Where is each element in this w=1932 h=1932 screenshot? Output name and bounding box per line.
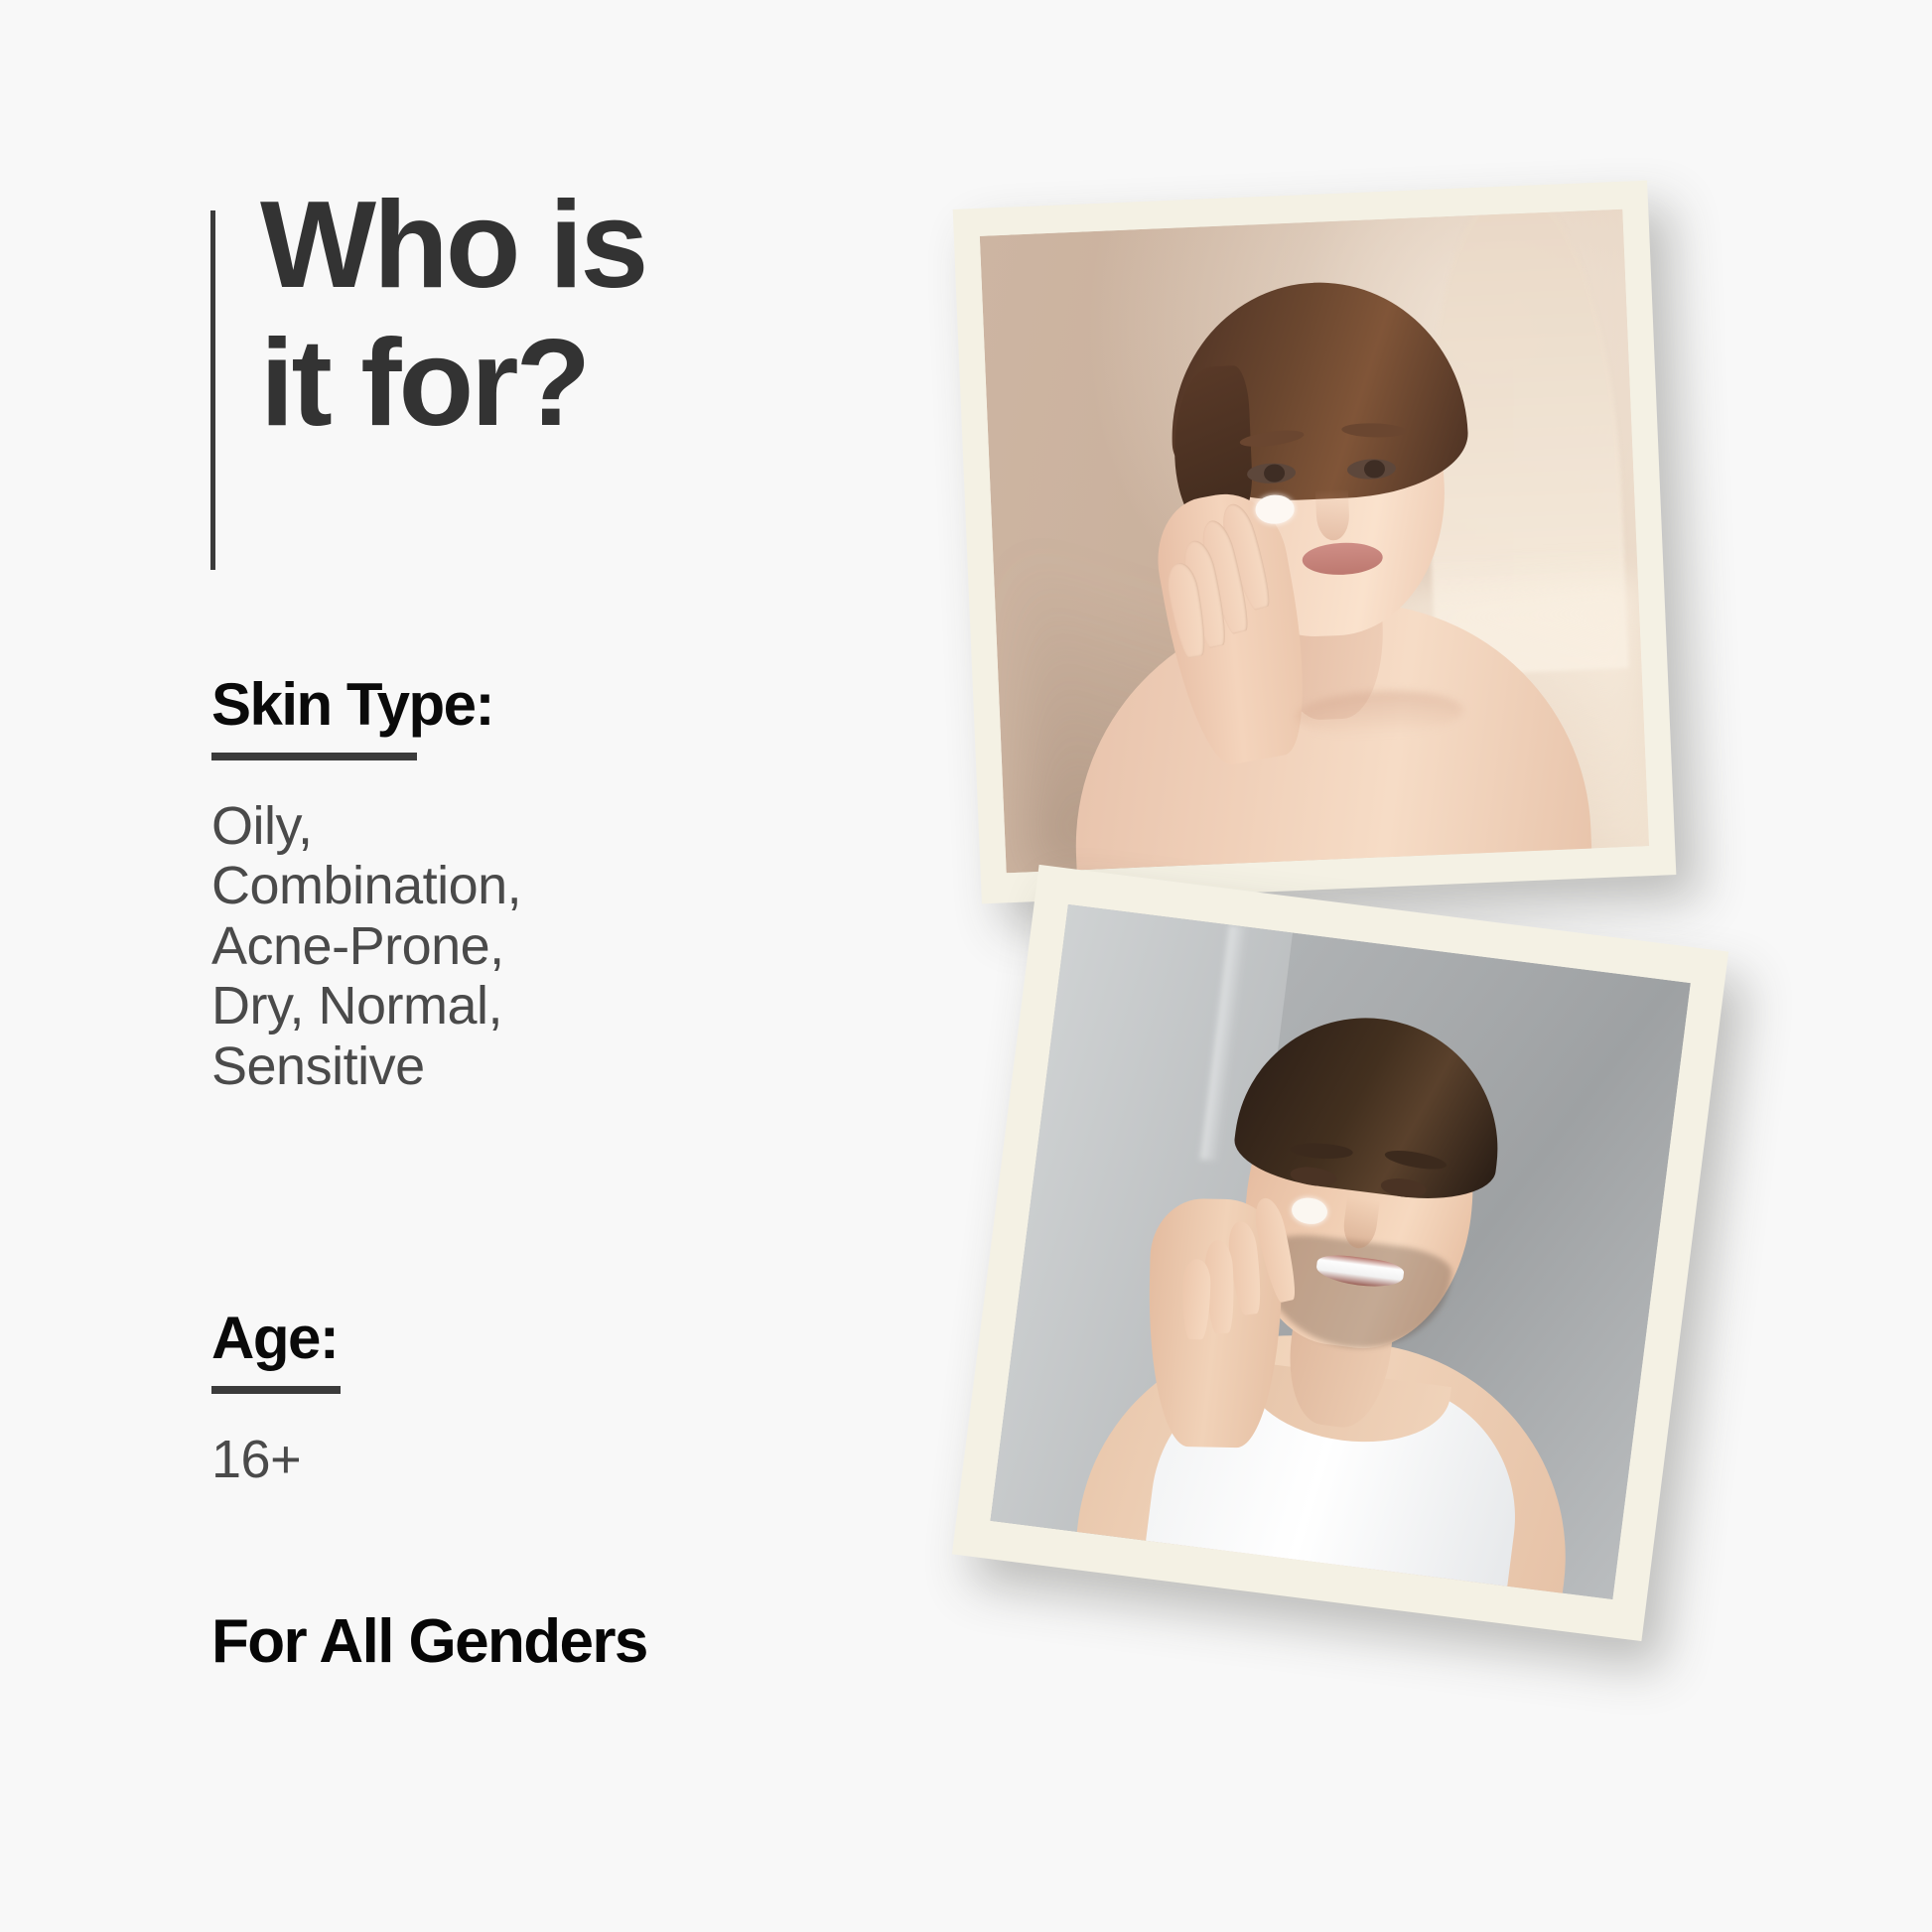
photo-woman-applying-cream xyxy=(980,209,1649,874)
woman-nose xyxy=(1315,488,1350,541)
photo-frame-man xyxy=(952,865,1728,1641)
poster-canvas: Who is it for? Skin Type: Oily, Combinat… xyxy=(0,0,1932,1932)
photo-collage xyxy=(0,0,1932,1932)
photo-frame-woman xyxy=(953,181,1677,904)
scene-warm-studio xyxy=(980,209,1649,874)
scene-grey-studio xyxy=(990,904,1690,1599)
photo-man-applying-cream xyxy=(990,904,1690,1599)
